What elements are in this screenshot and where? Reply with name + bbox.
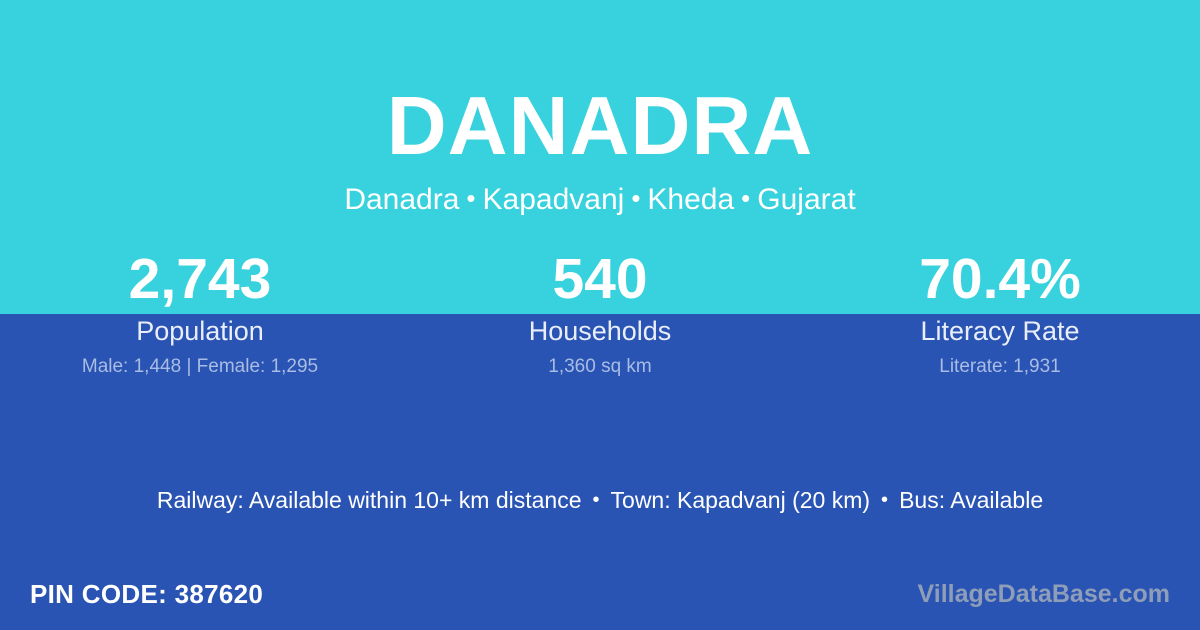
amenity-separator-icon: •: [870, 489, 899, 511]
village-info-card: DANADRA Danadra•Kapadvanj•Kheda•Gujarat …: [0, 0, 1200, 630]
amenities-line: Railway: Available within 10+ km distanc…: [0, 484, 1200, 518]
breadcrumb-item-state: Gujarat: [757, 183, 855, 216]
breadcrumb-separator-icon: •: [459, 183, 482, 213]
amenity-railway: Railway: Available within 10+ km distanc…: [157, 487, 582, 513]
pin-code: PIN CODE: 387620: [30, 578, 263, 610]
stat-value: 540: [400, 246, 800, 312]
amenity-separator-icon: •: [582, 489, 611, 511]
stat-value: 70.4%: [800, 246, 1200, 312]
breadcrumb-separator-icon: •: [734, 183, 757, 213]
breadcrumb-separator-icon: •: [624, 183, 647, 213]
stat-literacy-rate: 70.4% Literacy Rate Literate: 1,931: [800, 246, 1200, 380]
site-brand: VillageDataBase.com: [918, 578, 1170, 610]
stat-label: Literacy Rate: [800, 314, 1200, 348]
amenity-town: Town: Kapadvanj (20 km): [611, 487, 871, 513]
breadcrumb-item-village: Danadra: [344, 183, 459, 216]
stat-sublabel: 1,360 sq km: [400, 354, 800, 380]
breadcrumb-item-district: Kheda: [647, 183, 734, 216]
amenity-bus: Bus: Available: [899, 487, 1043, 513]
stat-label: Population: [0, 314, 400, 348]
footer: PIN CODE: 387620 VillageDataBase.com: [0, 558, 1200, 630]
breadcrumb-item-taluka: Kapadvanj: [483, 183, 625, 216]
stat-households: 540 Households 1,360 sq km: [400, 246, 800, 380]
page-title: DANADRA: [0, 78, 1200, 174]
breadcrumb: Danadra•Kapadvanj•Kheda•Gujarat: [0, 180, 1200, 220]
stat-sublabel: Literate: 1,931: [800, 354, 1200, 380]
stats-row: 2,743 Population Male: 1,448 | Female: 1…: [0, 246, 1200, 380]
stat-population: 2,743 Population Male: 1,448 | Female: 1…: [0, 246, 400, 380]
stat-label: Households: [400, 314, 800, 348]
stat-sublabel: Male: 1,448 | Female: 1,295: [0, 354, 400, 380]
stat-value: 2,743: [0, 246, 400, 312]
